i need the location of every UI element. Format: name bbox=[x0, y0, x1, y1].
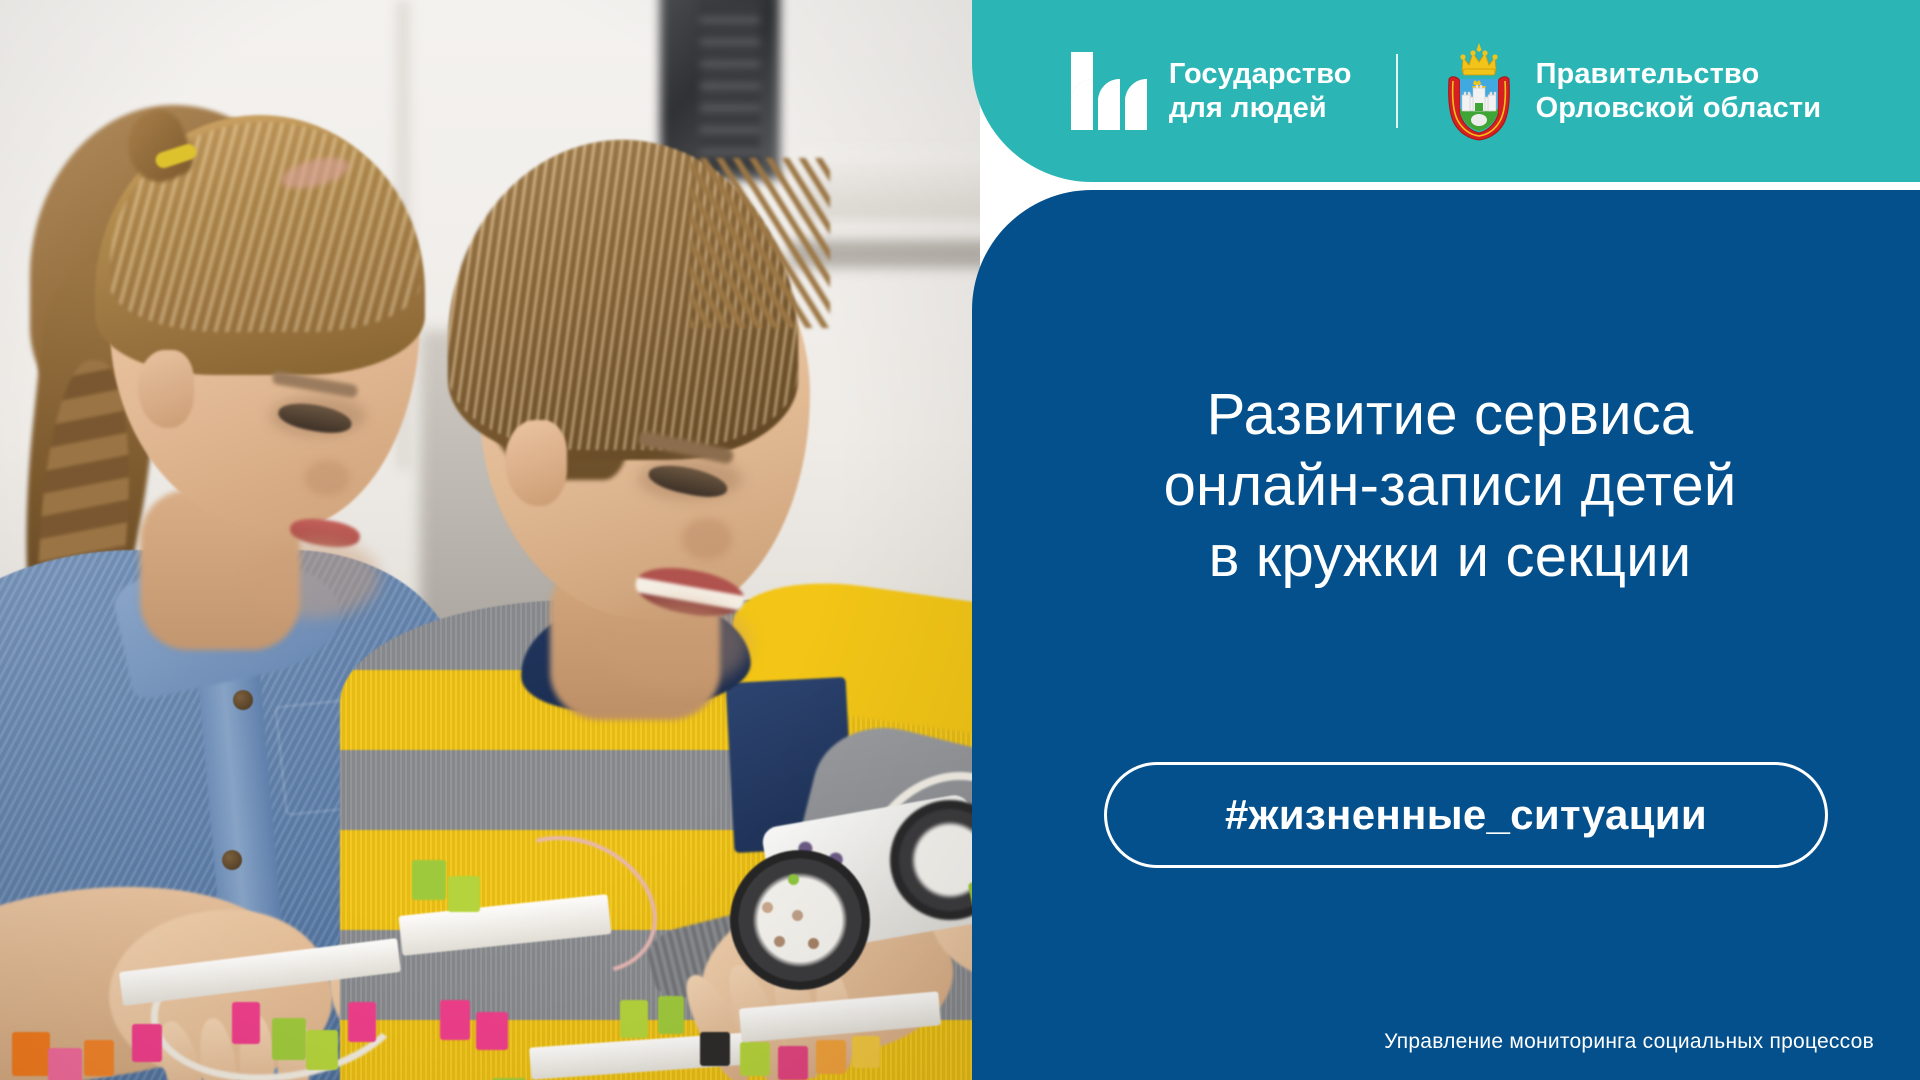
pink-connector bbox=[778, 1046, 808, 1080]
girl-ear bbox=[138, 350, 194, 428]
oryol-government-logo: Правительство Орловской области bbox=[1442, 41, 1822, 141]
boy-nose bbox=[682, 518, 732, 560]
oryol-oblast-coat-of-arms bbox=[1442, 41, 1516, 141]
yellow-connector bbox=[852, 1036, 880, 1068]
robot-indicator-dot bbox=[792, 910, 803, 921]
girl-chin bbox=[250, 538, 380, 618]
green-connector bbox=[272, 1018, 306, 1060]
green-connector bbox=[740, 1042, 770, 1076]
robot-indicator-dot bbox=[788, 874, 799, 885]
green-connector bbox=[412, 860, 446, 900]
page-title: Развитие сервиса онлайн-записи детей в к… bbox=[1010, 380, 1890, 592]
boy-hair-spikes bbox=[690, 158, 830, 328]
logo-row: Государство для людей bbox=[972, 0, 1920, 182]
pink-connector bbox=[476, 1012, 508, 1050]
robot-indicator-dot bbox=[808, 938, 819, 949]
oryol-government-logo-text: Правительство Орловской области bbox=[1536, 57, 1822, 125]
robot-indicator-dot bbox=[762, 902, 773, 913]
boy-ear bbox=[505, 420, 567, 506]
pink-connector bbox=[132, 1024, 162, 1062]
girl-shirt-button bbox=[222, 850, 242, 870]
orange-connector bbox=[84, 1040, 114, 1076]
gosuslugi-logo-text: Государство для людей bbox=[1169, 57, 1352, 125]
boy-chin bbox=[600, 600, 750, 690]
robot-indicator-dot bbox=[774, 936, 785, 947]
green-connector bbox=[658, 996, 684, 1034]
green-connector bbox=[448, 876, 480, 912]
logo-divider bbox=[1396, 54, 1398, 128]
pink-connector bbox=[48, 1048, 82, 1080]
teal-header-panel: Государство для людей bbox=[972, 0, 1920, 182]
gosuslugi-logo: Государство для людей bbox=[1071, 52, 1352, 130]
children-building-robot-photo bbox=[0, 0, 980, 1080]
photo-scene bbox=[0, 0, 980, 1080]
orange-connector bbox=[816, 1040, 846, 1074]
girl-nose bbox=[304, 460, 350, 496]
hashtag-label: #жизненные_ситуации bbox=[1225, 791, 1707, 839]
orange-connector bbox=[12, 1032, 50, 1076]
girl-shirt-button bbox=[233, 690, 253, 710]
footer-department-text: Управление мониторинга социальных процес… bbox=[1384, 1030, 1874, 1054]
poster-canvas: Государство для людей bbox=[0, 0, 1920, 1080]
pink-connector bbox=[232, 1002, 260, 1044]
green-connector bbox=[620, 1000, 648, 1038]
pink-connector bbox=[348, 1002, 376, 1042]
blue-content-panel bbox=[972, 190, 1920, 1080]
robot-front-wheel bbox=[730, 850, 870, 990]
pink-connector bbox=[440, 1000, 470, 1040]
gosuslugi-three-bars-logo bbox=[1071, 52, 1149, 130]
green-connector bbox=[306, 1030, 338, 1070]
black-connector bbox=[700, 1032, 730, 1066]
hashtag-button[interactable]: #жизненные_ситуации bbox=[1104, 762, 1828, 868]
